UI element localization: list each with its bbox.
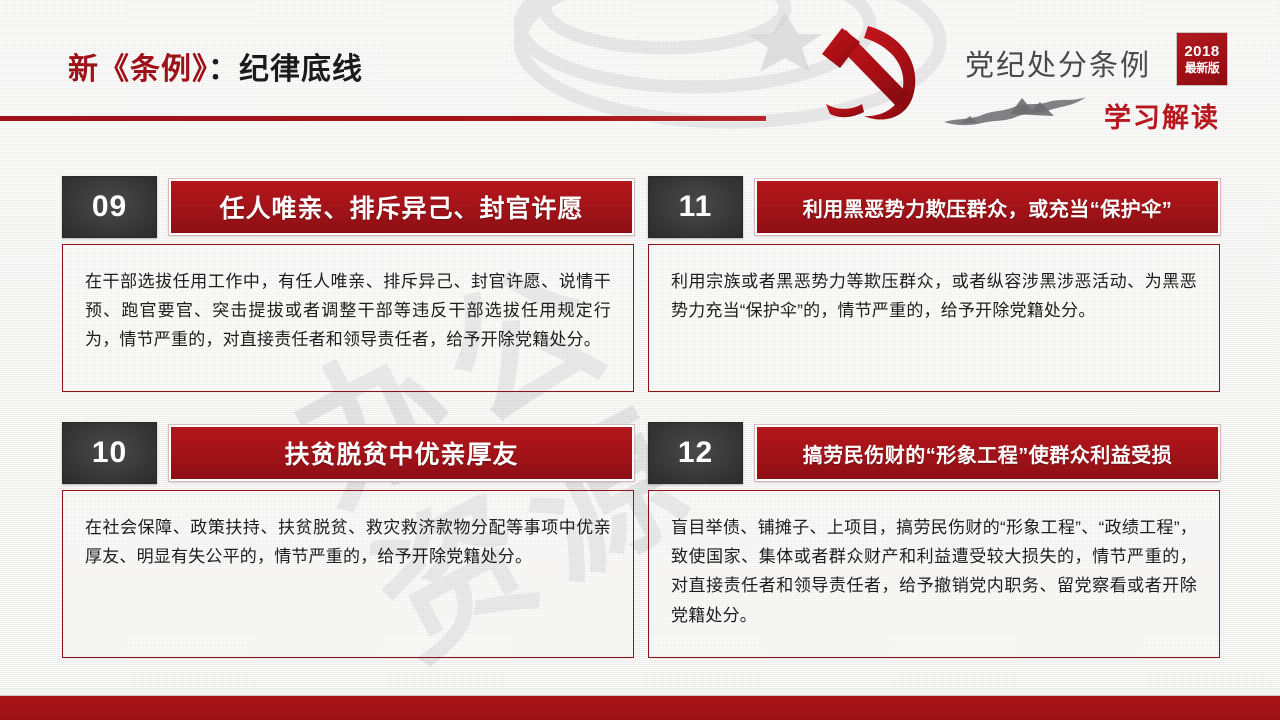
item-heading-text-11: 利用黑恶势力欺压群众，或充当“保护伞” [757, 193, 1218, 222]
item-head-12: 12 搞劳民伤财的“形象工程”使群众利益受损 [648, 422, 1220, 484]
item-heading-text-09: 任人唯亲、排斥异己、封官许愿 [171, 189, 632, 225]
item-card-12: 12 搞劳民伤财的“形象工程”使群众利益受损 盲目举债、铺摊子、上项目，搞劳民伤… [648, 422, 1220, 658]
item-body-text-12: 盲目举债、铺摊子、上项目，搞劳民伤财的“形象工程”、“政绩工程”，致使国家、集体… [671, 513, 1197, 630]
item-card-11: 11 利用黑恶势力欺压群众，或充当“保护伞” 利用宗族或者黑恶势力等欺压群众，或… [648, 176, 1220, 392]
item-number-12: 12 [648, 422, 743, 484]
item-head-10: 10 扶贫脱贫中优亲厚友 [62, 422, 634, 484]
item-heading-bar-09[interactable]: 任人唯亲、排斥异己、封官许愿 [169, 179, 634, 235]
item-heading-text-10: 扶贫脱贫中优亲厚友 [171, 435, 632, 471]
item-body-text-11: 利用宗族或者黑恶势力等欺压群众，或者纵容涉黑涉恶活动、为黑恶势力充当“保护伞”的… [671, 267, 1197, 325]
item-body-box-12: 盲目举债、铺摊子、上项目，搞劳民伤财的“形象工程”、“政绩工程”，致使国家、集体… [648, 490, 1220, 658]
footer-bar [0, 695, 1280, 720]
item-head-11: 11 利用黑恶势力欺压群众，或充当“保护伞” [648, 176, 1220, 238]
item-body-text-10: 在社会保障、政策扶持、扶贫脱贫、救灾救济款物分配等事项中优亲厚友、明显有失公平的… [85, 513, 611, 571]
item-heading-text-12: 搞劳民伤财的“形象工程”使群众利益受损 [757, 439, 1218, 468]
item-head-09: 09 任人唯亲、排斥异己、封官许愿 [62, 176, 634, 238]
items-grid: 09 任人唯亲、排斥异己、封官许愿 在干部选拔任用工作中，有任人唯亲、排斥异己、… [0, 0, 1280, 720]
item-heading-bar-11[interactable]: 利用黑恶势力欺压群众，或充当“保护伞” [755, 179, 1220, 235]
item-body-text-09: 在干部选拔任用工作中，有任人唯亲、排斥异己、封官许愿、说情干预、跑官要官、突击提… [85, 267, 611, 355]
item-number-09: 09 [62, 176, 157, 238]
slide-page: 办公 资源 新《条例》：纪律底线 [0, 0, 1280, 720]
item-body-box-09: 在干部选拔任用工作中，有任人唯亲、排斥异己、封官许愿、说情干预、跑官要官、突击提… [62, 244, 634, 392]
item-heading-bar-10[interactable]: 扶贫脱贫中优亲厚友 [169, 425, 634, 481]
item-card-10: 10 扶贫脱贫中优亲厚友 在社会保障、政策扶持、扶贫脱贫、救灾救济款物分配等事项… [62, 422, 634, 658]
item-number-10: 10 [62, 422, 157, 484]
item-number-11: 11 [648, 176, 743, 238]
item-heading-bar-12[interactable]: 搞劳民伤财的“形象工程”使群众利益受损 [755, 425, 1220, 481]
item-body-box-10: 在社会保障、政策扶持、扶贫脱贫、救灾救济款物分配等事项中优亲厚友、明显有失公平的… [62, 490, 634, 658]
item-body-box-11: 利用宗族或者黑恶势力等欺压群众，或者纵容涉黑涉恶活动、为黑恶势力充当“保护伞”的… [648, 244, 1220, 392]
item-card-09: 09 任人唯亲、排斥异己、封官许愿 在干部选拔任用工作中，有任人唯亲、排斥异己、… [62, 176, 634, 392]
